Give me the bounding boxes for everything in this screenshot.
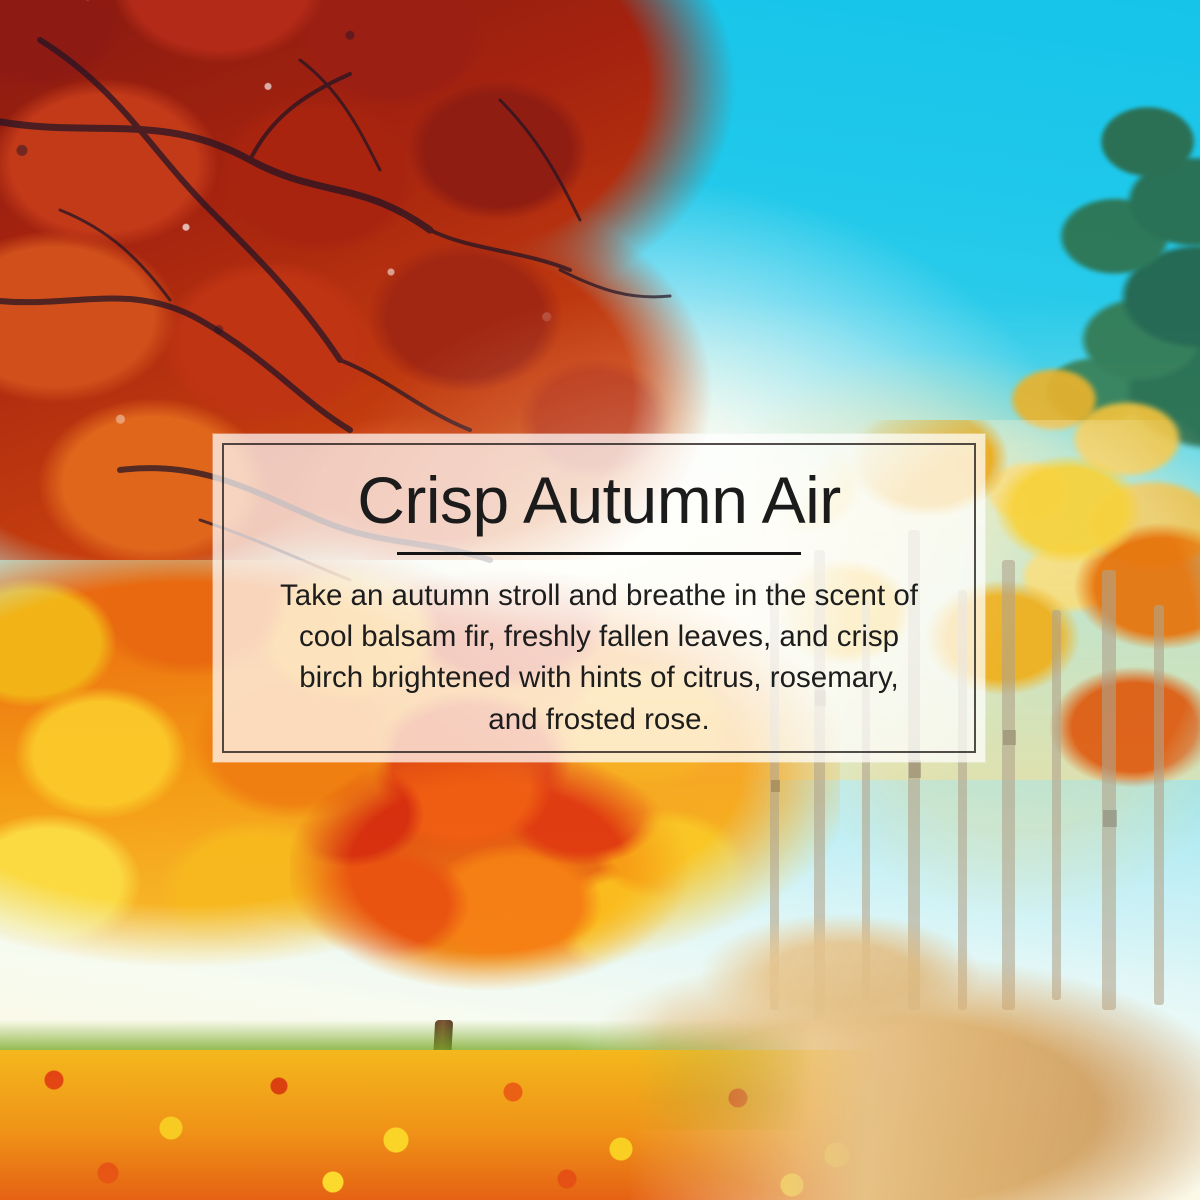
fallen-leaves-layer	[0, 1050, 900, 1200]
scent-title: Crisp Autumn Air	[357, 466, 841, 536]
scent-description: Take an autumn stroll and breathe in the…	[279, 575, 919, 740]
title-divider	[397, 552, 801, 555]
text-overlay-panel: Crisp Autumn Air Take an autumn stroll a…	[213, 434, 985, 762]
product-scent-card: Crisp Autumn Air Take an autumn stroll a…	[0, 0, 1200, 1200]
panel-content: Crisp Autumn Air Take an autumn stroll a…	[213, 434, 985, 762]
